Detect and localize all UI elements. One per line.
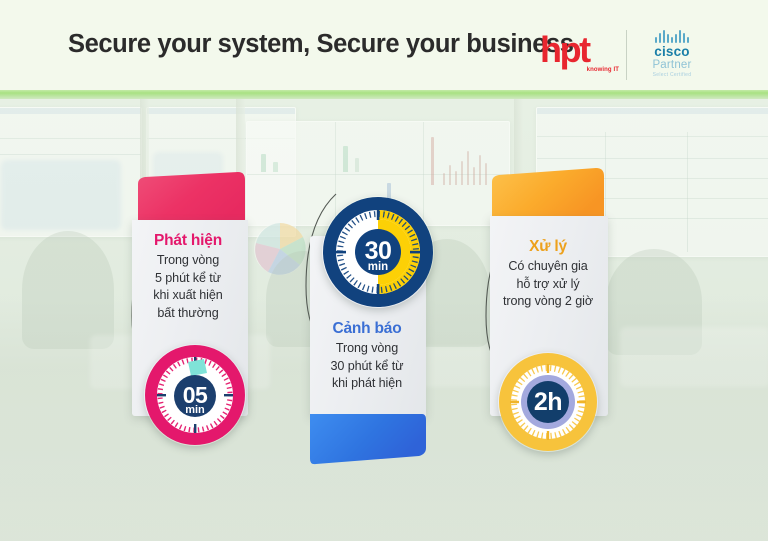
card2-line-2: 30 phút kể từ [304,358,430,376]
card2-body: Trong vòng 30 phút kể từ khi phát hiện [304,340,430,393]
card1-line-2: 5 phút kể từ [126,270,250,288]
cisco-level-label: Select Certified [636,72,708,78]
card3-title: Xử lý [484,238,612,256]
infographic-slide: Secure your system, Secure your business… [0,0,768,541]
slide-header: Secure your system, Secure your business… [0,0,768,90]
card2-ribbon [306,412,428,466]
timer-2h-value: 2h [498,390,598,415]
card1-line-1: Trong vòng [126,252,250,270]
card3-line-2: hỗ trợ xử lý [484,276,612,294]
card1-body: Trong vòng 5 phút kể từ khi xuất hiện bấ… [126,252,250,322]
card2-title: Cảnh báo [304,320,430,338]
cisco-bridge-icon [636,30,708,43]
card2-line-3: khi phát hiện [304,375,430,393]
hpt-tagline: knowing IT [587,67,619,73]
card3-line-3: trong vòng 2 giờ [484,293,612,311]
card3-ribbon [488,168,608,222]
timer-30-min: 30 min [322,196,434,308]
card1-title: Phát hiện [126,232,250,250]
logo-divider [626,30,627,80]
card1-line-4: bất thường [126,305,250,323]
page-title: Secure your system, Secure your business [68,30,574,59]
timer-30-unit: min [322,262,434,274]
timer-05-unit: min [144,405,246,416]
hpt-logo: hpt knowing IT [540,32,620,80]
cisco-wordmark: cisco [636,44,708,59]
card3-body: Có chuyên gia hỗ trợ xử lý trong vòng 2 … [484,258,612,311]
cisco-partner-label: Partner [636,59,708,71]
hpt-wordmark: hpt [540,32,620,68]
timer-2h: 2h [498,352,598,452]
card1-ribbon [132,172,246,226]
card2-line-1: Trong vòng [304,340,430,358]
timer-05-min: 05 min [144,344,246,446]
card1-line-3: khi xuất hiện [126,287,250,305]
card3-line-1: Có chuyên gia [484,258,612,276]
cisco-partner-logo: cisco Partner Select Certified [636,30,708,82]
